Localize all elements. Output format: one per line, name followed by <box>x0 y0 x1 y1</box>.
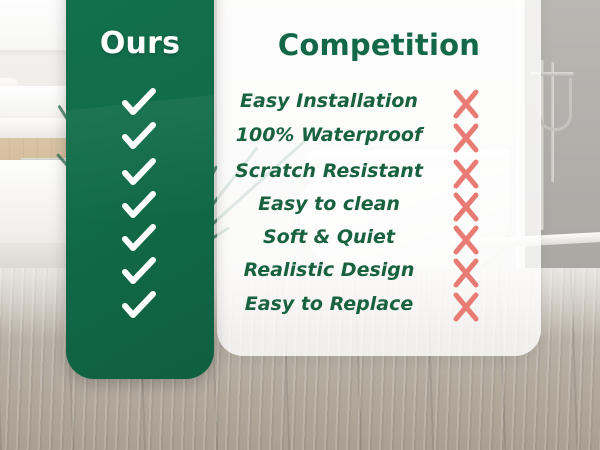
cross-icon <box>450 88 482 120</box>
feature-row: Soft & Quiet <box>0 224 600 258</box>
cross-icon <box>450 224 482 256</box>
feature-row: Scratch Resistant <box>0 158 600 192</box>
check-icon <box>122 88 156 118</box>
feature-row: Easy to Replace <box>0 291 600 325</box>
check-icon <box>122 257 156 287</box>
check-icon <box>122 122 156 152</box>
cross-icon <box>450 257 482 289</box>
feature-row: Realistic Design <box>0 257 600 291</box>
feature-label: Scratch Resistant <box>224 158 434 184</box>
feature-row: 100% Waterproof <box>0 122 600 156</box>
cross-icon <box>450 122 482 154</box>
check-icon <box>122 291 156 321</box>
cross-icon <box>450 191 482 223</box>
check-icon <box>122 224 156 254</box>
comparison-infographic: Ours Competition Easy Installation100% W… <box>0 0 600 450</box>
feature-rows: Easy Installation100% WaterproofScratch … <box>0 0 600 450</box>
feature-label: Soft & Quiet <box>224 224 434 250</box>
check-icon <box>122 158 156 188</box>
feature-label: Realistic Design <box>224 257 434 283</box>
feature-label: Easy to clean <box>224 191 434 217</box>
feature-label: 100% Waterproof <box>224 122 434 148</box>
feature-label: Easy Installation <box>224 88 434 114</box>
feature-row: Easy to clean <box>0 191 600 225</box>
feature-label: Easy to Replace <box>224 291 434 317</box>
feature-row: Easy Installation <box>0 88 600 122</box>
check-icon <box>122 191 156 221</box>
cross-icon <box>450 291 482 323</box>
cross-icon <box>450 158 482 190</box>
